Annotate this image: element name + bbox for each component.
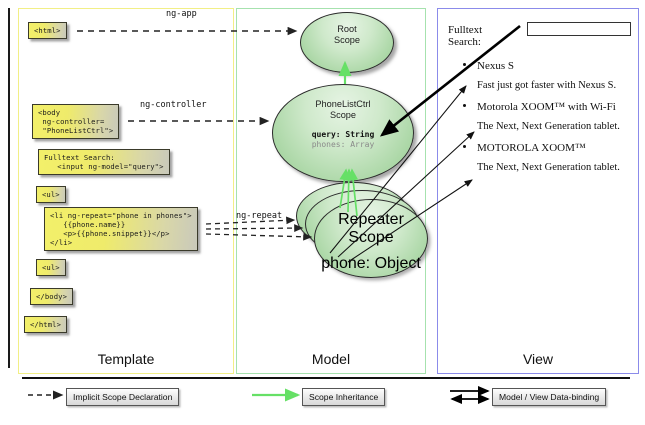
fulltext-search-label: Fulltext Search: [448, 24, 482, 48]
list-item: Nexus S Fast just got faster with Nexus … [463, 59, 633, 93]
legend-arrow-binding [450, 391, 488, 399]
list-bullet-icon [463, 145, 466, 148]
repeater-scope-member-phone: phone: Object [315, 255, 427, 273]
left-margin-rule [8, 8, 10, 368]
edge-label-ng-controller: ng-controller [140, 100, 207, 110]
list-item: Motorola XOOM™ with Wi-Fi The Next, Next… [463, 100, 633, 134]
phonelist-scope-member-phones: phones: Array [273, 140, 413, 150]
fulltext-search-input[interactable] [527, 22, 631, 36]
legend-model-view-data-binding: Model / View Data-binding [492, 388, 606, 406]
panel-title-view: View [438, 351, 638, 367]
code-box-search-input: Fulltext Search: <input ng-model="query"… [38, 149, 170, 175]
phone-list: Nexus S Fast just got faster with Nexus … [463, 59, 633, 182]
code-box-ul-open: <ul> [36, 186, 66, 203]
edge-label-ng-app: ng-app [166, 9, 197, 19]
legend-implicit-scope-declaration: Implicit Scope Declaration [66, 388, 179, 406]
root-scope-title-line2: Scope [301, 35, 393, 46]
repeater-scope-front: Repeater Scope phone: Object [314, 199, 428, 278]
legend-scope-inheritance: Scope Inheritance [302, 388, 385, 406]
code-box-li-repeat: <li ng-repeat="phone in phones"> {{phone… [44, 207, 198, 251]
phonelist-scope-member-query: query: String [273, 130, 413, 140]
node-phonelistctrl-scope: PhoneListCtrl Scope query: String phones… [272, 84, 414, 182]
code-box-ul-close: <ul> [36, 259, 66, 276]
repeater-scope-title-line2: Scope [315, 229, 427, 247]
node-repeater-scope-stack: Repeater Scope phone: Object [296, 182, 424, 278]
list-item: MOTOROLA XOOM™ The Next, Next Generation… [463, 141, 633, 175]
list-bullet-icon [463, 104, 466, 107]
code-box-body-open: <body ng-controller= "PhoneListCtrl"> [32, 104, 119, 139]
code-box-html-close: </html> [24, 316, 67, 333]
panel-title-template: Template [19, 351, 233, 367]
list-item-title: Motorola XOOM™ with Wi-Fi [477, 100, 633, 115]
list-item-snippet: Fast just got faster with Nexus S. [477, 78, 633, 93]
list-bullet-icon [463, 63, 466, 66]
code-box-html-open: <html> [28, 22, 67, 39]
view-rendered-output: Fulltext Search: Nexus S Fast just got f… [443, 14, 633, 244]
repeater-scope-title-line1: Repeater [315, 211, 427, 229]
legend-divider [22, 377, 630, 379]
root-scope-title-line1: Root [301, 24, 393, 35]
phonelist-scope-title-line2: Scope [273, 110, 413, 121]
edge-label-ng-repeat: ng-repeat [236, 211, 282, 221]
list-item-title: Nexus S [477, 59, 633, 74]
list-item-title: MOTOROLA XOOM™ [477, 141, 633, 156]
panel-title-model: Model [237, 351, 425, 367]
code-box-body-close: </body> [30, 288, 73, 305]
list-item-snippet: The Next, Next Generation tablet. [477, 119, 633, 134]
phonelist-scope-title-line1: PhoneListCtrl [273, 99, 413, 110]
list-item-snippet: The Next, Next Generation tablet. [477, 160, 633, 175]
node-root-scope: Root Scope [300, 12, 394, 73]
